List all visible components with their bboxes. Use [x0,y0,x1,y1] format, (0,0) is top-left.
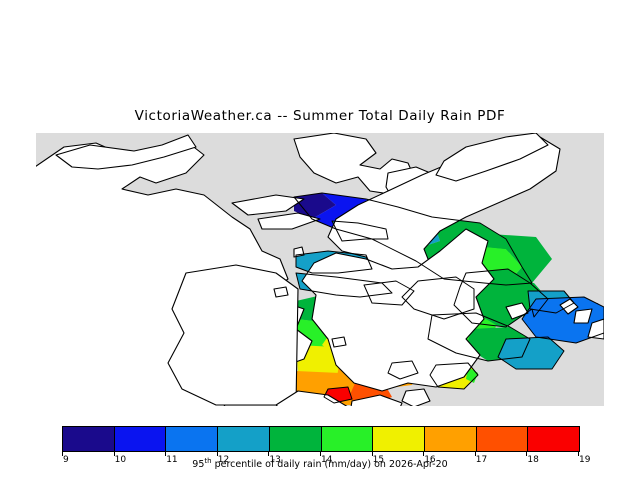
colorbar-segment-7[interactable] [425,427,477,451]
caption-rest: percentile of daily rain (mm/day) on 202… [212,459,448,470]
colorbar-segment-2[interactable] [166,427,218,451]
colorbar-area: 910111213141516171819 95th percentile of… [0,420,640,480]
weather-map-page: VictoriaWeather.ca -- Summer Total Daily… [0,0,640,480]
land-islet-hole-b [274,287,288,297]
colorbar[interactable] [62,426,580,452]
colorbar-segment-3[interactable] [218,427,270,451]
land-islet-hole-a [332,337,346,347]
map-svg[interactable] [36,133,604,406]
colorbar-segment-8[interactable] [477,427,529,451]
colorbar-segment-4[interactable] [270,427,322,451]
colorbar-segment-9[interactable] [528,427,579,451]
colorbar-segment-1[interactable] [115,427,167,451]
map-panel[interactable] [36,133,604,406]
colorbar-segment-6[interactable] [373,427,425,451]
colorbar-caption: 95th percentile of daily rain (mm/day) o… [0,457,640,470]
colorbar-segment-5[interactable] [322,427,374,451]
caption-prefix: 95 [192,459,204,470]
colorbar-segment-0[interactable] [63,427,115,451]
land-mainland-sw [168,265,298,405]
page-title: VictoriaWeather.ca -- Summer Total Daily… [0,108,640,124]
caption-superscript: th [204,457,211,465]
